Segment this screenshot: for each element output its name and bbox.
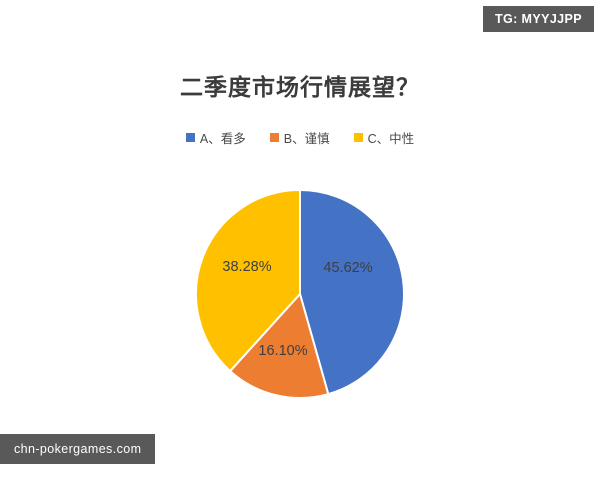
legend-label-a: A、看多 bbox=[200, 128, 246, 147]
pie-svg bbox=[196, 190, 404, 398]
legend-swatch-icon-c bbox=[354, 133, 363, 142]
legend-label-c: C、中性 bbox=[368, 128, 415, 147]
chart-container: 二季度市场行情展望？ A、看多 B、谨慎 C、中性 45.62% 16.10% … bbox=[0, 0, 600, 480]
chart-legend: A、看多 B、谨慎 C、中性 bbox=[0, 128, 600, 147]
chart-title: 二季度市场行情展望？ bbox=[0, 68, 600, 102]
watermark-bottom-left: chn-pokergames.com bbox=[0, 434, 155, 464]
legend-item-c[interactable]: C、中性 bbox=[354, 128, 415, 147]
pie-slice-label-b: 16.10% bbox=[258, 343, 307, 359]
legend-swatch-icon-a bbox=[186, 133, 195, 142]
legend-item-a[interactable]: A、看多 bbox=[186, 128, 246, 147]
watermark-top-right: TG: MYYJJPP bbox=[483, 6, 594, 32]
pie-slice-label-c: 38.28% bbox=[222, 259, 271, 275]
legend-item-b[interactable]: B、谨慎 bbox=[270, 128, 330, 147]
pie-slice-label-a: 45.62% bbox=[323, 260, 372, 276]
legend-swatch-icon-b bbox=[270, 133, 279, 142]
pie-chart: 45.62% 16.10% 38.28% bbox=[196, 190, 404, 398]
legend-label-b: B、谨慎 bbox=[284, 128, 330, 147]
